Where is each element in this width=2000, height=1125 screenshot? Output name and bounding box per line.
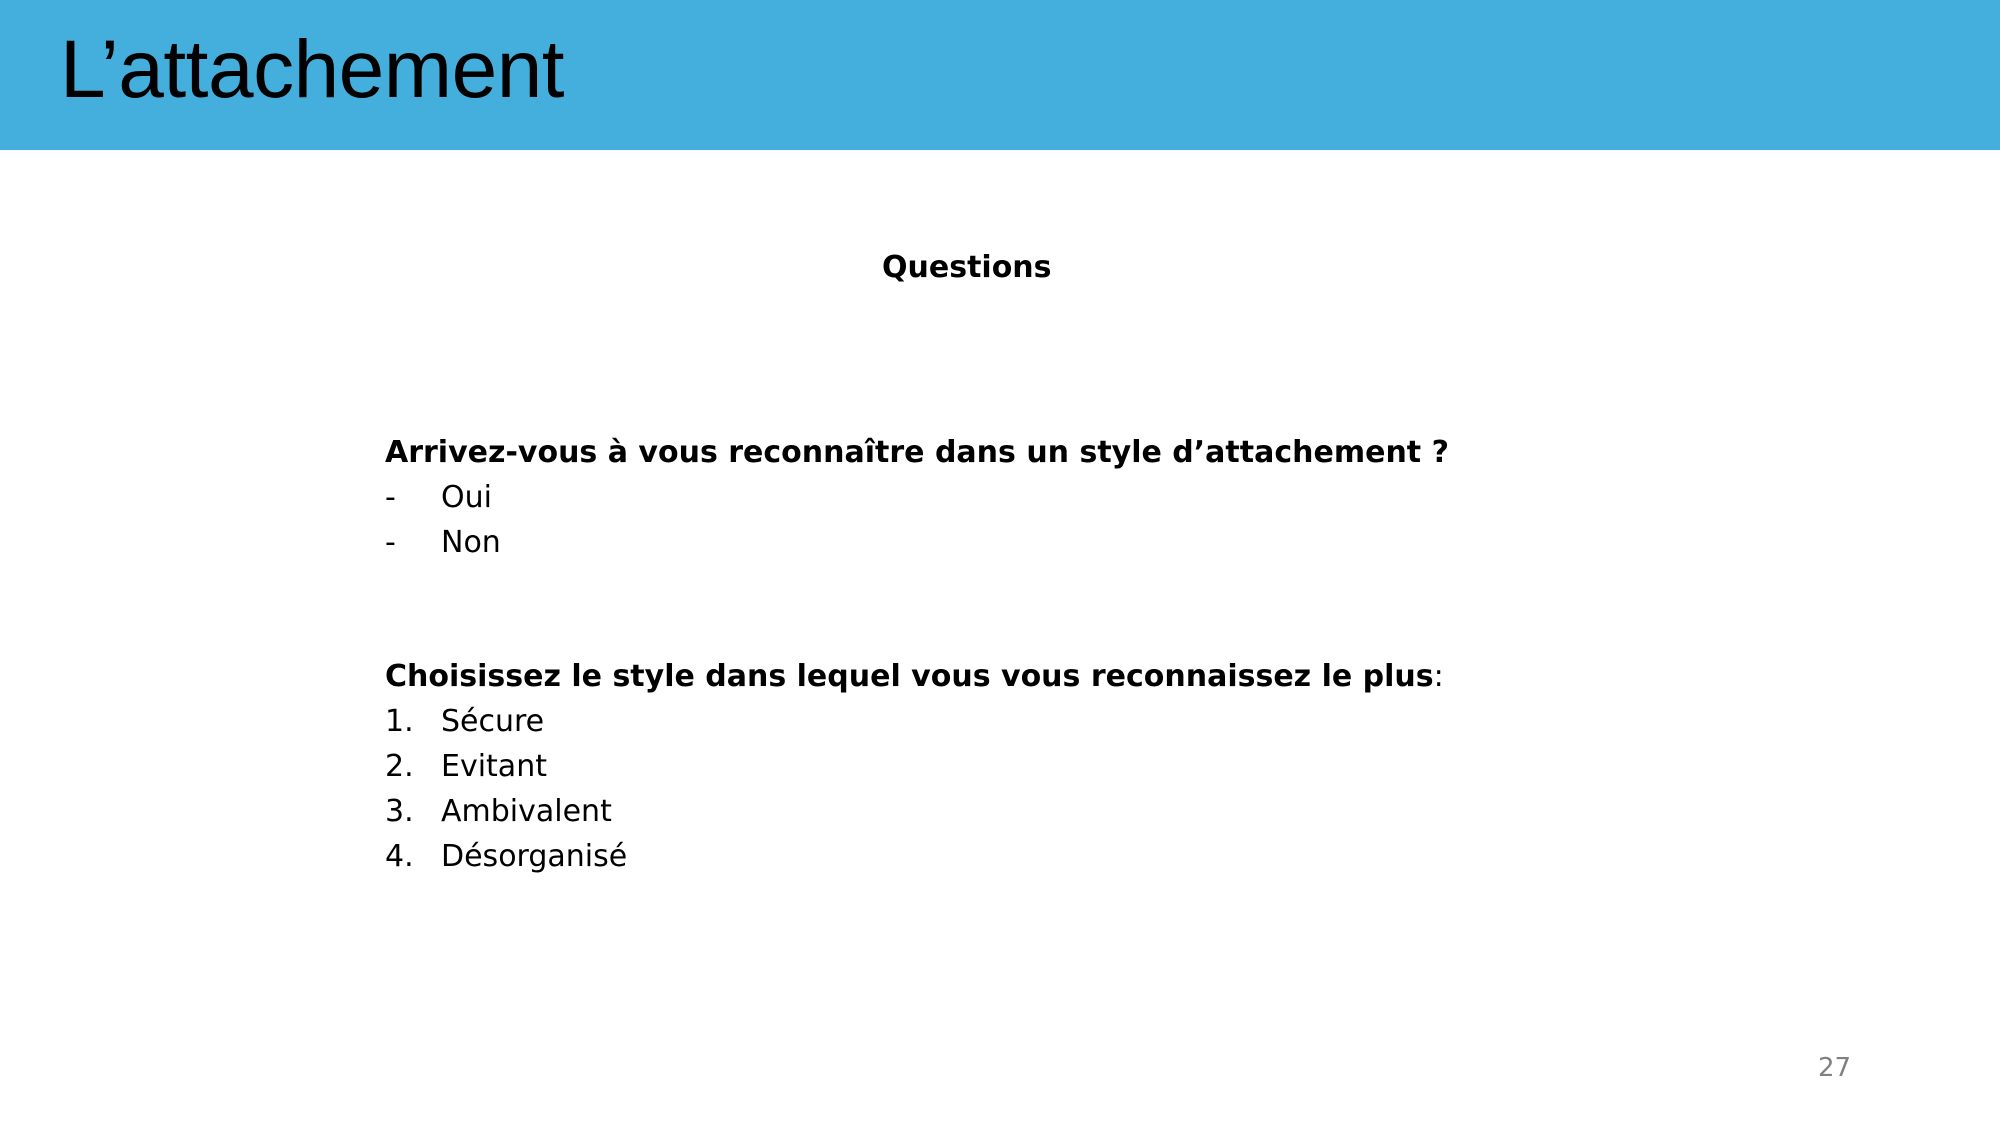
list-item-marker: 2. <box>385 744 441 789</box>
list-item-label: Ambivalent <box>441 789 612 834</box>
list-item[interactable]: 2. Evitant <box>385 744 1485 789</box>
list-item[interactable]: 4. Désorganisé <box>385 834 1485 879</box>
list-item[interactable]: - Non <box>385 520 1485 565</box>
title-banner: L’attachement <box>0 0 2000 150</box>
slide-body: Questions Arrivez-vous à vous reconnaîtr… <box>0 150 2000 1125</box>
question-prompt-punct: : <box>1434 659 1444 694</box>
question-block: Choisissez le style dans lequel vous vou… <box>385 655 1485 879</box>
question-prompt: Choisissez le style dans lequel vous vou… <box>385 655 1485 699</box>
question-prompt: Arrivez-vous à vous reconnaître dans un … <box>385 431 1485 475</box>
list-item-label: Sécure <box>441 699 544 744</box>
section-heading: Questions <box>882 250 1052 285</box>
answer-list: - Oui - Non <box>385 475 1485 565</box>
list-item[interactable]: - Oui <box>385 475 1485 520</box>
list-item[interactable]: 1. Sécure <box>385 699 1485 744</box>
question-prompt-text: Arrivez-vous à vous reconnaître dans un … <box>385 435 1449 470</box>
page-title: L’attachement <box>60 20 564 120</box>
list-item-label: Oui <box>441 475 492 520</box>
page-number: 27 <box>1818 1053 1851 1083</box>
list-item[interactable]: 3. Ambivalent <box>385 789 1485 834</box>
list-item-marker: - <box>385 520 441 565</box>
list-item-marker: 4. <box>385 834 441 879</box>
list-item-label: Evitant <box>441 744 547 789</box>
list-item-label: Désorganisé <box>441 834 627 879</box>
list-item-marker: - <box>385 475 441 520</box>
list-item-marker: 3. <box>385 789 441 834</box>
list-item-label: Non <box>441 520 501 565</box>
question-block: Arrivez-vous à vous reconnaître dans un … <box>385 431 1485 565</box>
answer-list: 1. Sécure 2. Evitant 3. Ambivalent 4. Dé… <box>385 699 1485 879</box>
list-item-marker: 1. <box>385 699 441 744</box>
question-prompt-text: Choisissez le style dans lequel vous vou… <box>385 659 1434 694</box>
presentation-slide: L’attachement Questions Arrivez-vous à v… <box>0 0 2000 1125</box>
